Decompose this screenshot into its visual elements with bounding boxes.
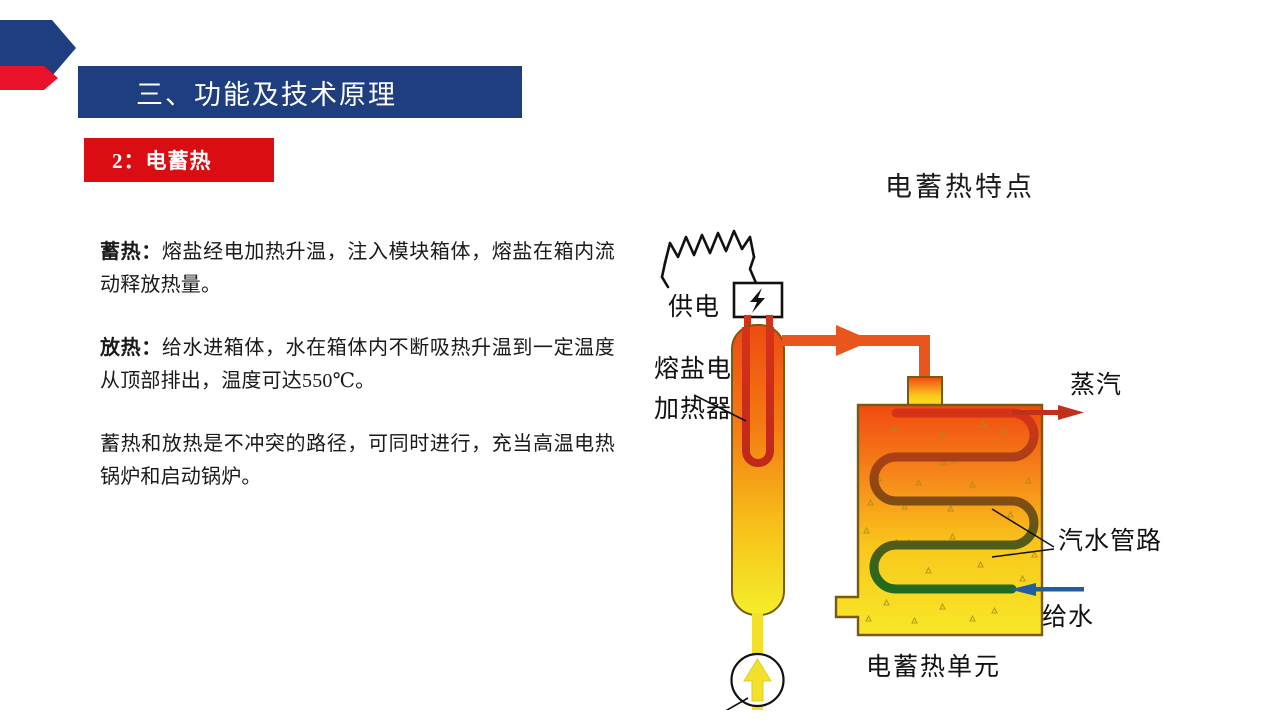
paragraph-storage-text: 熔盐经电加热升温，注入模块箱体，熔盐在箱内流动释放热量。 xyxy=(100,241,615,296)
electric-heat-storage-schematic: 供电 熔盐电 加热器 xyxy=(640,165,1280,710)
zigzag-power-icon xyxy=(662,231,756,287)
page-title: 三、功能及技术原理 xyxy=(78,73,397,112)
tank-neck xyxy=(908,377,942,407)
label-feed-water: 给水 xyxy=(1042,603,1094,631)
section-title-bar: 三、功能及技术原理 xyxy=(78,66,522,118)
label-power-supply: 供电 xyxy=(668,293,720,321)
paragraph-release-lead: 放热： xyxy=(100,337,162,359)
slide-root: 三、功能及技术原理 2：电蓄热 蓄热：熔盐经电加热升温，注入模块箱体，熔盐在箱内… xyxy=(0,0,1280,720)
electric-box xyxy=(734,283,782,317)
label-salt-heater-line1: 熔盐电 xyxy=(654,355,732,383)
paragraph-release: 放热：给水进箱体，水在箱体内不断吸热升温到一定温度从顶部排出，温度可达550℃。 xyxy=(100,332,615,398)
paragraph-storage: 蓄热：熔盐经电加热升温，注入模块箱体，熔盐在箱内流动释放热量。 xyxy=(100,236,615,302)
diagram-container: 电蓄热特点 xyxy=(640,165,1280,710)
label-salt-heater-line2: 加热器 xyxy=(654,395,732,423)
molten-salt-pump xyxy=(732,654,784,706)
label-steam: 蒸汽 xyxy=(1070,371,1122,399)
paragraph-summary-text: 蓄热和放热是不冲突的路径，可同时进行，充当高温电热锅炉和启动锅炉。 xyxy=(100,433,615,488)
label-steam-water-pipe: 汽水管路 xyxy=(1058,527,1162,555)
diagram-title: 电蓄热特点 xyxy=(640,165,1280,204)
paragraph-storage-lead: 蓄热： xyxy=(100,241,162,263)
molten-salt-heater-vessel xyxy=(732,325,784,615)
body-text-column: 蓄热：熔盐经电加热升温，注入模块箱体，熔盐在箱内流动释放热量。 放热：给水进箱体… xyxy=(100,236,615,494)
label-storage-unit: 电蓄热单元 xyxy=(866,653,1001,681)
paragraph-release-text: 给水进箱体，水在箱体内不断吸热升温到一定温度从顶部排出，温度可达550℃。 xyxy=(100,337,615,392)
sub-section-banner: 2：电蓄热 xyxy=(84,138,274,182)
hot-salt-flow-arrow xyxy=(836,325,872,356)
sub-section-label: 2：电蓄热 xyxy=(84,145,212,175)
paragraph-summary: 蓄热和放热是不冲突的路径，可同时进行，充当高温电热锅炉和启动锅炉。 xyxy=(100,428,615,494)
